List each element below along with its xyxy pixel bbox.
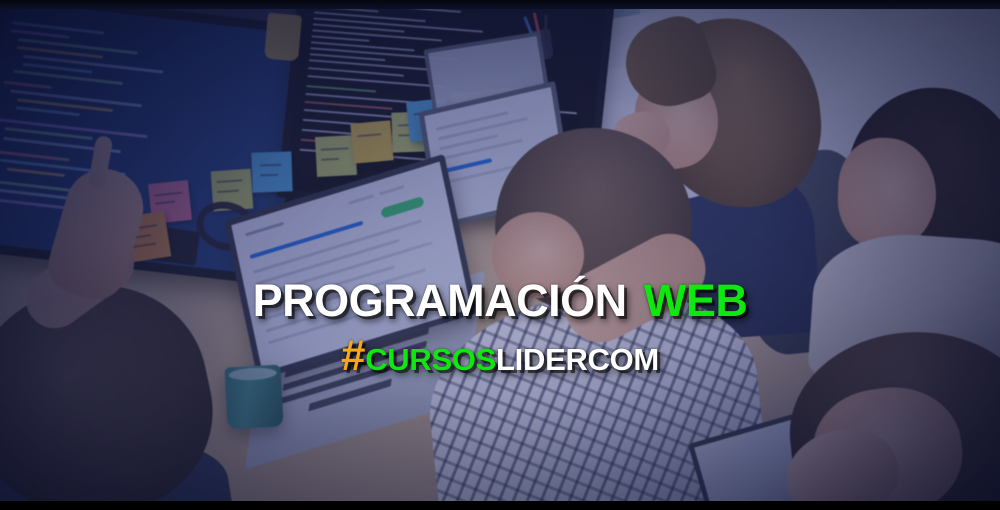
promo-banner: Programación Web #CursosLidercom xyxy=(0,0,1000,510)
hashtag-subtitle: #CursosLidercom xyxy=(0,334,1000,378)
hashtag-symbol: # xyxy=(341,331,365,380)
headline-main-text: Programación xyxy=(253,258,644,330)
bottom-letterbox-band xyxy=(0,501,1000,510)
title-block: Programación Web #CursosLidercom xyxy=(0,262,1000,378)
page-title: Programación Web xyxy=(0,262,1000,326)
hashtag-green-text: Cursos xyxy=(365,331,496,380)
top-letterbox-band xyxy=(0,0,1000,9)
hashtag-white-text: Lidercom xyxy=(496,331,659,380)
vignette-overlay xyxy=(0,0,1000,510)
headline-accent-text: Web xyxy=(644,258,748,330)
